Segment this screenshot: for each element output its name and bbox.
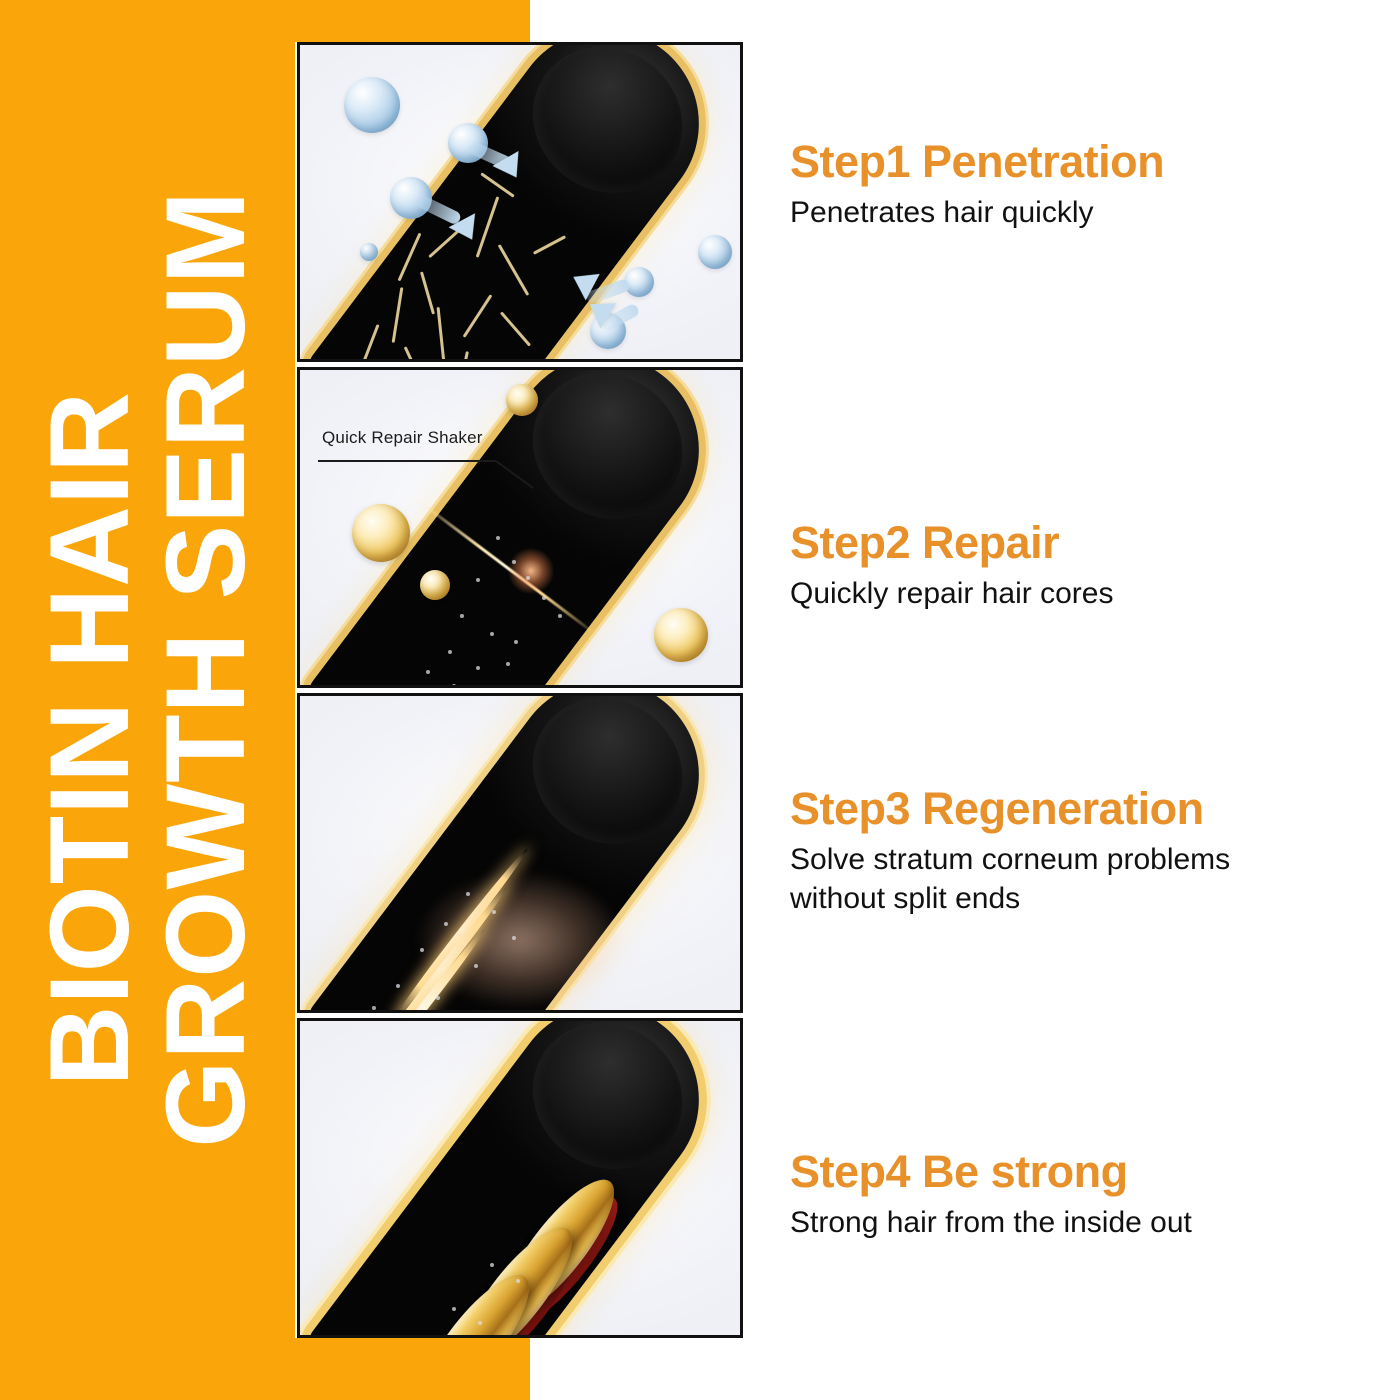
gold-droplet-icon [352, 504, 410, 562]
step-item-3: Step3 Regeneration Solve stratum corneum… [790, 709, 1350, 995]
panel-repair: Quick Repair Shaker [297, 367, 743, 687]
panel-repair-art: Quick Repair Shaker [300, 370, 740, 684]
step-title-3: Step3 Regeneration [790, 785, 1350, 834]
brand-title-line-2: GROWTH SERUM [150, 190, 262, 1148]
panel-be-strong [297, 1018, 743, 1338]
step-desc-2: Quickly repair hair cores [790, 574, 1330, 613]
callout-label: Quick Repair Shaker [322, 428, 483, 448]
spark-icon [508, 548, 554, 594]
panel-penetration-art [300, 45, 740, 359]
step-title-4: Step4 Be strong [790, 1148, 1350, 1197]
gold-droplet-icon [506, 384, 538, 416]
step-item-1: Step1 Penetration Penetrates hair quickl… [790, 42, 1350, 424]
product-infographic: BIOTIN HAIR GROWTH SERUM [0, 0, 1400, 1400]
gold-droplet-icon [654, 608, 708, 662]
panel-penetration [297, 42, 743, 362]
bubble-icon [344, 77, 400, 133]
callout-leader-line [318, 460, 496, 462]
step-desc-1: Penetrates hair quickly [790, 193, 1330, 232]
step-item-2: Step2 Repair Quickly repair hair cores [790, 424, 1350, 710]
panel-regeneration [297, 693, 743, 1013]
panel-regeneration-art [300, 696, 740, 1010]
step-desc-3: Solve stratum corneum problems without s… [790, 840, 1330, 918]
steps-column: Step1 Penetration Penetrates hair quickl… [790, 42, 1350, 1338]
bubble-icon [698, 235, 732, 269]
bubble-icon [360, 243, 378, 261]
step-desc-4: Strong hair from the inside out [790, 1203, 1330, 1242]
step-title-1: Step1 Penetration [790, 138, 1350, 187]
bubble-icon [624, 267, 654, 297]
brand-title-line-1: BIOTIN HAIR [34, 391, 146, 1086]
panel-be-strong-art [300, 1021, 740, 1335]
step-title-2: Step2 Repair [790, 519, 1350, 568]
illustration-panel-column: Quick Repair Shaker [297, 42, 743, 1338]
step-item-4: Step4 Be strong Strong hair from the ins… [790, 995, 1350, 1339]
brand-title: BIOTIN HAIR GROWTH SERUM [0, 0, 295, 1400]
